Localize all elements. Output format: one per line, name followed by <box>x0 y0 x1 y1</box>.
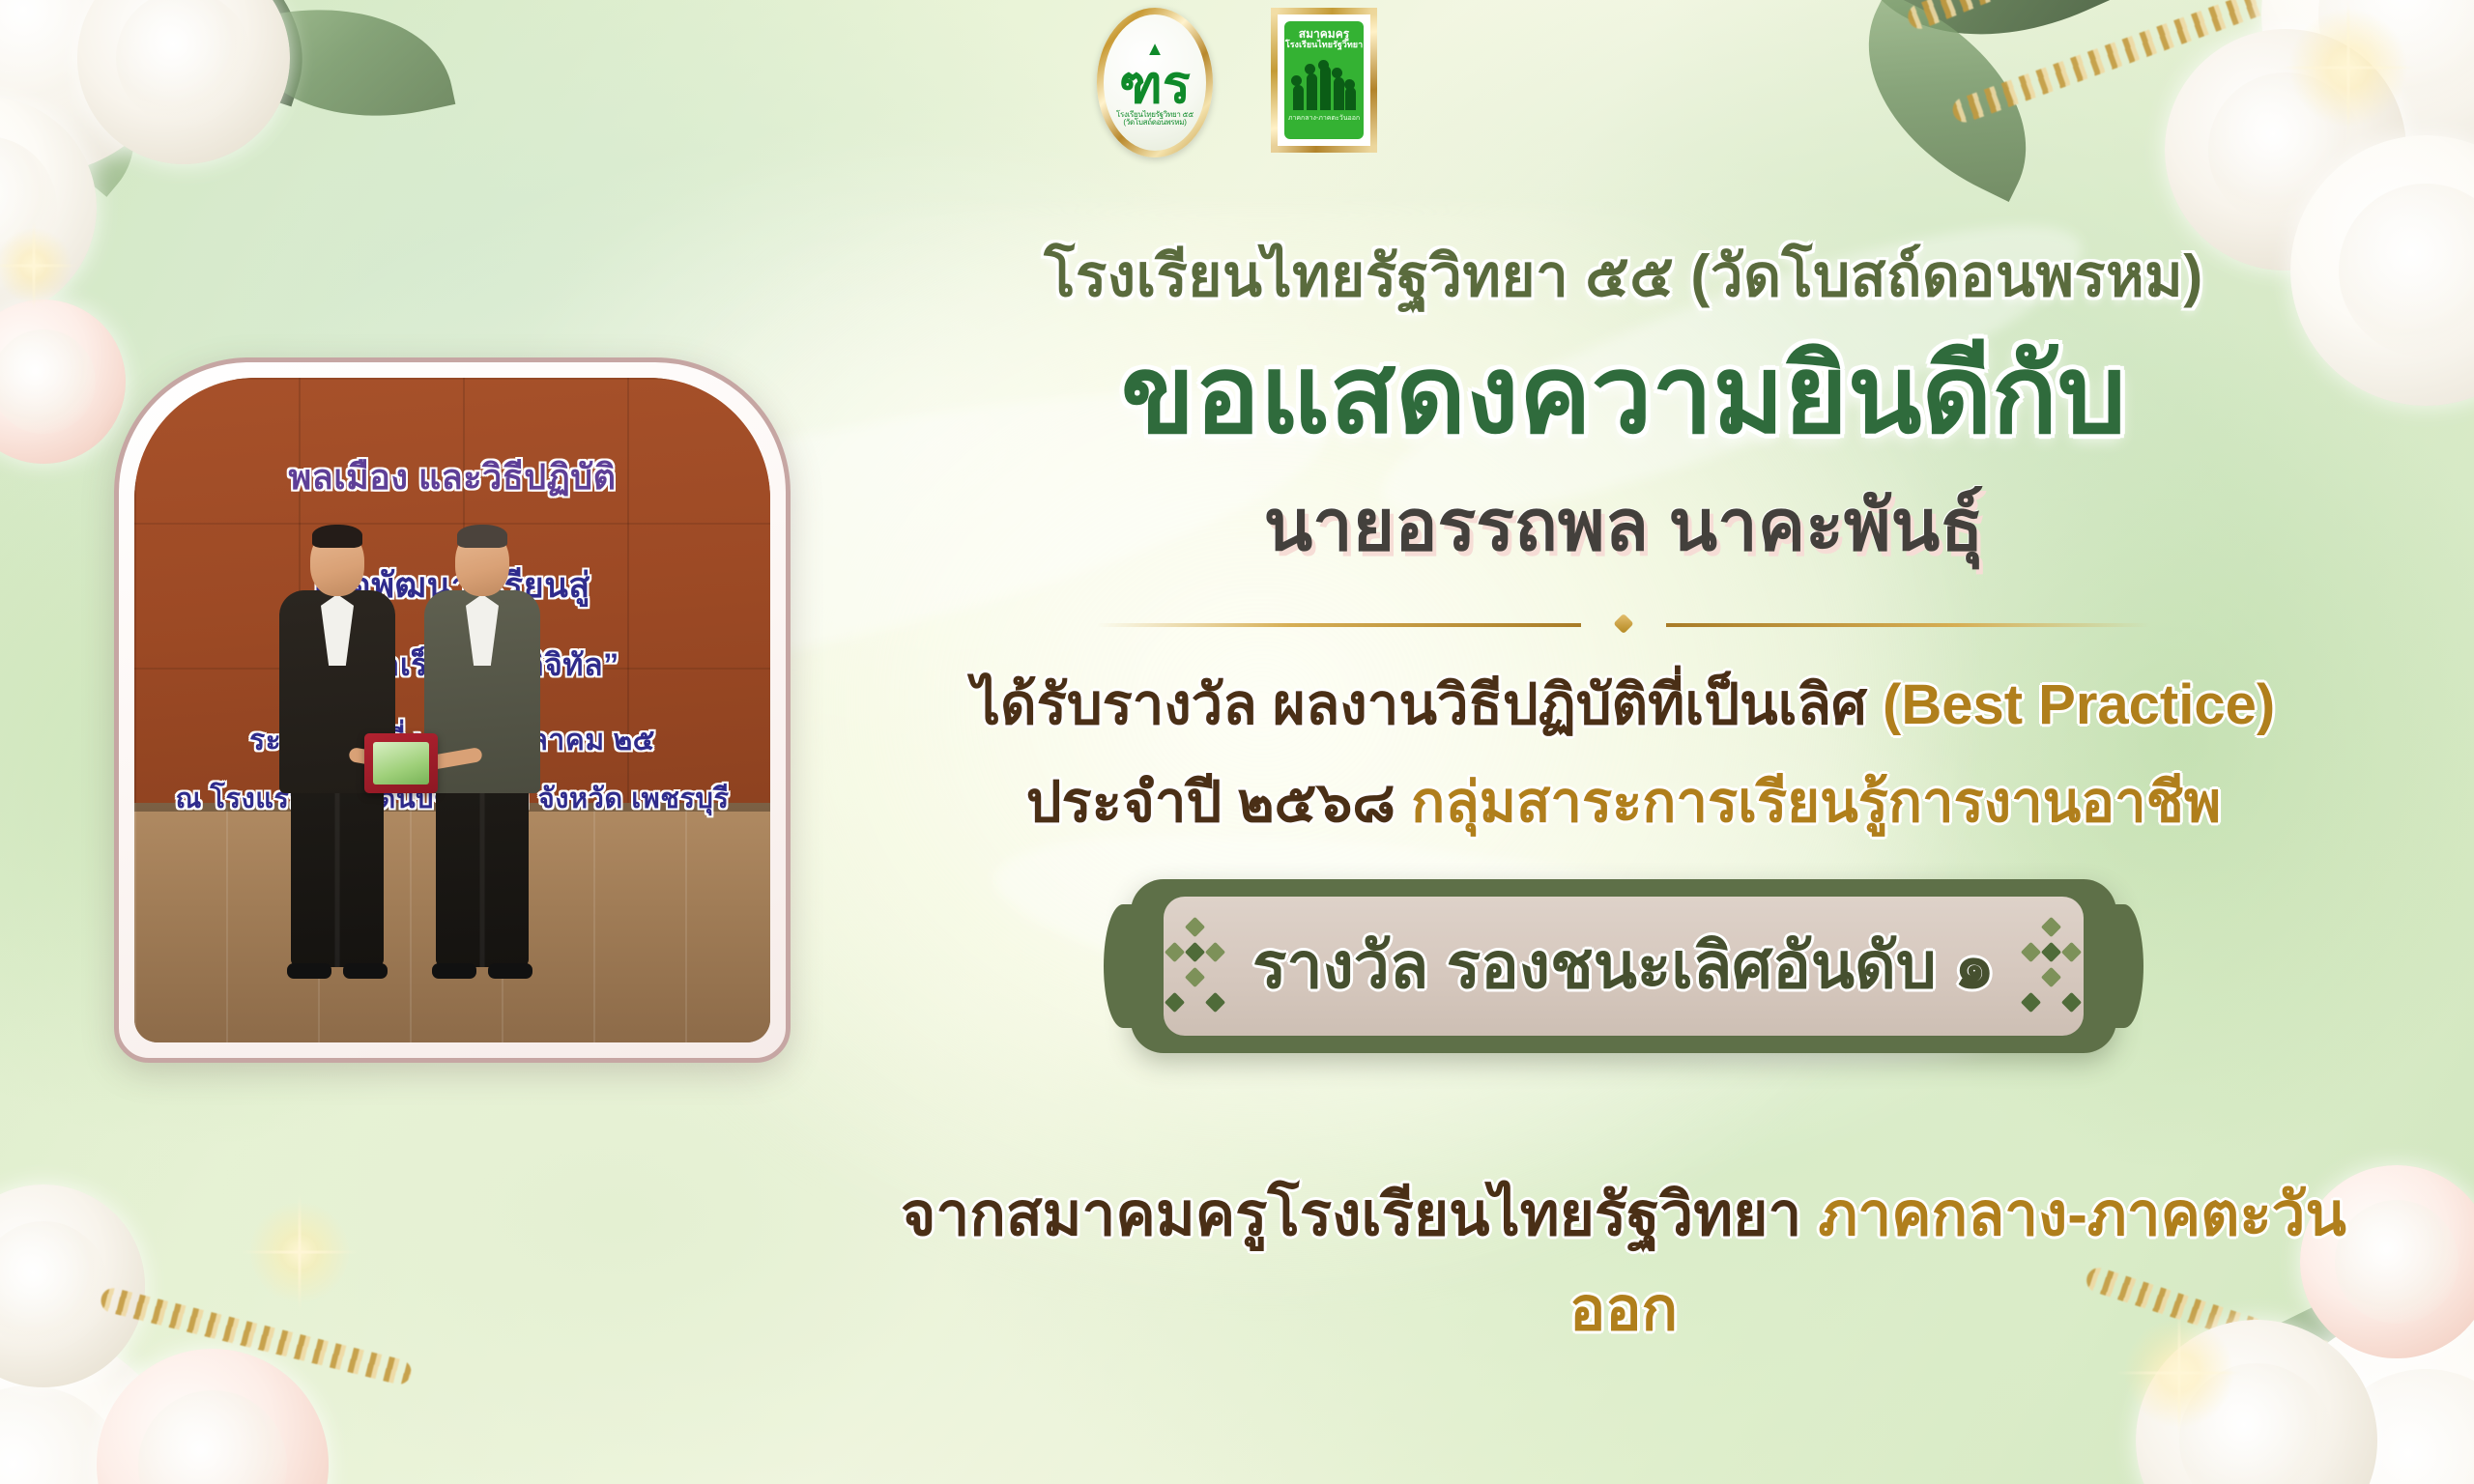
award-line1-gold: (Best Practice) <box>1883 673 2275 736</box>
photo-person-head <box>310 528 364 596</box>
school-name-line: โรงเรียนไทยรัฐวิทยา ๕๕ (วัดโบสถ์ดอนพรหม) <box>850 230 2397 322</box>
divider-bar-right <box>1666 623 2150 627</box>
photo-shirt <box>466 594 499 666</box>
from-line-thai: จากสมาคมครูโรงเรียนไทยรัฐวิทยา <box>901 1182 1818 1248</box>
badge-outer-plate: รางวัล รองชนะเลิศอันดับ ๑ <box>1131 879 2116 1053</box>
divider-bar-left <box>1097 623 1581 627</box>
photo-person-head <box>455 528 509 596</box>
photo-shoe <box>488 963 532 979</box>
award-photo-frame: พลเมือง และวิธีปฏิบัติ เพื่อพัฒนาผู้เรีย… <box>114 357 791 1063</box>
award-photo: พลเมือง และวิธีปฏิบัติ เพื่อพัฒนาผู้เรีย… <box>134 378 770 1042</box>
content-column: โรงเรียนไทยรัฐวิทยา ๕๕ (วัดโบสถ์ดอนพรหม)… <box>850 0 2397 1484</box>
photo-shoe <box>343 963 388 979</box>
award-description-line-2: ประจำปี ๒๕๖๘ กลุ่มสาระการเรียนรู้การงานอ… <box>850 756 2397 846</box>
award-line1-thai: ได้รับรางวัล ผลงานวิธีปฏิบัติที่เป็นเลิศ <box>972 673 1883 736</box>
badge-inner-plate: รางวัล รองชนะเลิศอันดับ ๑ <box>1164 897 2084 1036</box>
recipient-name: นายอรรถพล นาคะพันธุ์ <box>850 468 2397 582</box>
awarding-body-line: จากสมาคมครูโรงเรียนไทยรัฐวิทยา ภาคกลาง-ภ… <box>850 1167 2397 1356</box>
photo-person-legs <box>436 793 529 967</box>
banner-canvas: ▲ ฑร โรงเรียนไทยรัฐวิทยา ๕๕ (วัดโบสถ์ดอน… <box>0 0 2474 1484</box>
photo-shoe <box>432 963 476 979</box>
diamond-ornament-right-icon <box>2020 920 2084 1013</box>
award-rank-badge: รางวัล รองชนะเลิศอันดับ ๑ <box>1131 879 2116 1053</box>
award-description-line-1: ได้รับรางวัล ผลงานวิธีปฏิบัติที่เป็นเลิศ… <box>850 659 2397 749</box>
gold-divider <box>1097 614 2150 636</box>
award-plaque-icon <box>364 733 438 793</box>
photo-backdrop-line1: พลเมือง และวิธีปฏิบัติ <box>134 449 770 504</box>
congratulations-heading: ขอแสดงความยินดีกับ <box>850 337 2397 454</box>
diamond-ornament-left-icon <box>1164 920 1227 1013</box>
award-line2-gold: กลุ่มสาระการเรียนรู้การงานอาชีพ <box>1411 771 2221 834</box>
photo-person-right <box>424 528 540 967</box>
photo-shoe <box>287 963 331 979</box>
badge-label: รางวัล รองชนะเลิศอันดับ ๑ <box>1252 915 1995 1016</box>
photo-person-legs <box>291 793 384 967</box>
photo-shirt <box>321 594 354 666</box>
divider-diamond-icon <box>1613 614 1633 634</box>
award-line2-thai: ประจำปี ๒๕๖๘ <box>1026 771 1411 834</box>
